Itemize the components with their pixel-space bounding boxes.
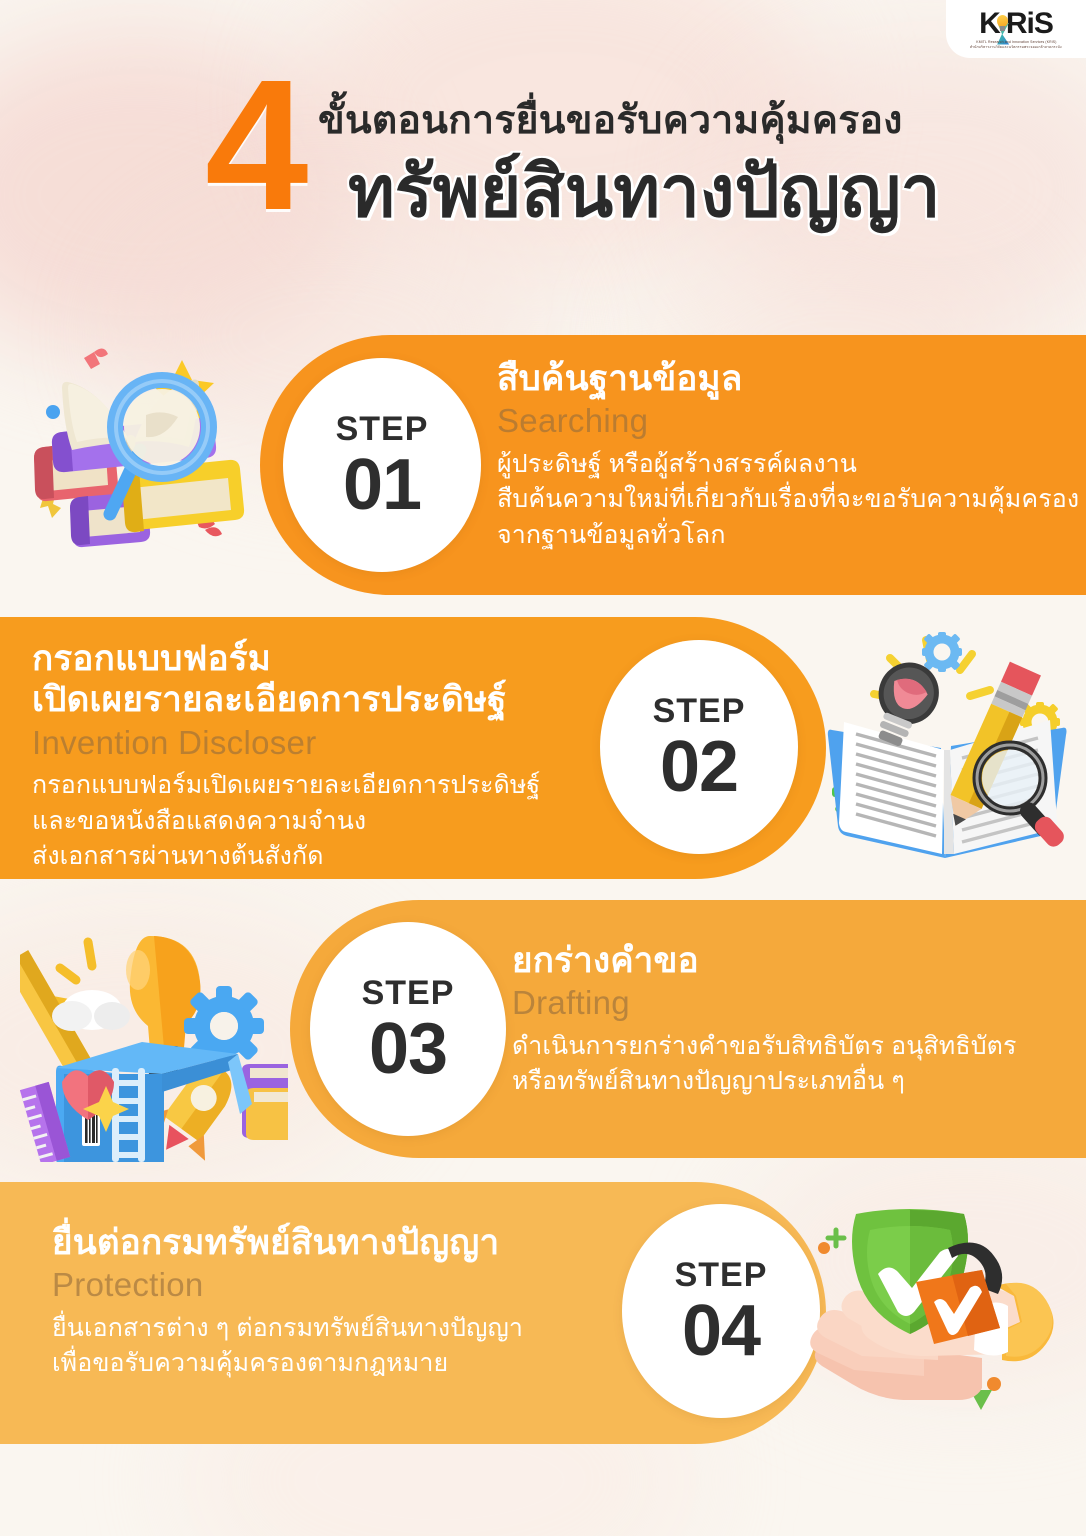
step-badge-4: STEP 04 bbox=[622, 1204, 820, 1418]
step-title-th: สืบค้นฐานข้อมูล bbox=[497, 358, 1067, 399]
step-content-2: กรอกแบบฟอร์ม เปิดเผยรายละเอียดการประดิษฐ… bbox=[32, 638, 592, 875]
step-title-th-line1: กรอกแบบฟอร์ม bbox=[32, 638, 592, 679]
step-number: 03 bbox=[369, 1015, 447, 1083]
logo-letter-s: S bbox=[1034, 9, 1053, 39]
step-content-1: สืบค้นฐานข้อมูล Searching ผู้ประดิษฐ์ หร… bbox=[497, 358, 1067, 553]
logo-letters-ri: Ri bbox=[1006, 9, 1034, 39]
step-body-line: สืบค้นความใหม่ที่เกี่ยวกับเรื่องที่จะขอร… bbox=[497, 482, 1067, 518]
logo-subtitle-en: KMITL Research and Innovation Services (… bbox=[976, 40, 1056, 45]
step-label: STEP bbox=[675, 1256, 768, 1295]
step-content-4: ยื่นต่อกรมทรัพย์สินทางปัญญา Protection ย… bbox=[52, 1222, 612, 1382]
step-body-line: ผู้ประดิษฐ์ หรือผู้สร้างสรรค์ผลงาน bbox=[497, 447, 1067, 483]
page-header: 4 ขั้นตอนการยื่นขอรับความคุ้มครอง ทรัพย์… bbox=[0, 55, 1086, 245]
lightbulb-icon bbox=[997, 15, 1008, 35]
step-body: กรอกแบบฟอร์มเปิดเผยรายละเอียดการประดิษฐ์… bbox=[32, 768, 592, 875]
step-title-en: Searching bbox=[497, 401, 1067, 441]
step-label: STEP bbox=[336, 410, 429, 449]
step-body-line: ส่งเอกสารผ่านทางต้นสังกัด bbox=[32, 839, 592, 875]
step-title-en: Drafting bbox=[512, 983, 1072, 1023]
step-number: 01 bbox=[343, 451, 421, 519]
logo-subtitle-th: สำนักบริหารงานวิจัยและนวัตกรรมพระจอมเกล้… bbox=[970, 45, 1062, 50]
step-body-line: จากฐานข้อมูลทั่วโลก bbox=[497, 518, 1067, 554]
logo-wordmark: K Ri S bbox=[979, 9, 1053, 39]
step-number: 02 bbox=[660, 733, 738, 801]
step-body: ยื่นเอกสารต่าง ๆ ต่อกรมทรัพย์สินทางปัญญา… bbox=[52, 1311, 612, 1382]
step-body-line: ดำเนินการยกร่างคำขอรับสิทธิบัตร อนุสิทธิ… bbox=[512, 1029, 1072, 1065]
books-magnifier-icon bbox=[22, 330, 284, 592]
idea-box-lightbulb-icon bbox=[20, 918, 288, 1162]
step-badge-2: STEP 02 bbox=[600, 640, 798, 854]
step-title-th-line2: เปิดเผยรายละเอียดการประดิษฐ์ bbox=[32, 679, 592, 720]
step-title-en: Protection bbox=[52, 1265, 612, 1305]
step-body-line: เพื่อขอรับความคุ้มครองตามกฎหมาย bbox=[52, 1346, 612, 1382]
header-big-number: 4 bbox=[205, 53, 298, 239]
step-body: ดำเนินการยกร่างคำขอรับสิทธิบัตร อนุสิทธิ… bbox=[512, 1029, 1072, 1100]
page-title: ทรัพย์สินทางปัญญา bbox=[348, 135, 940, 248]
step-body-line: และขอหนังสือแสดงความจำนง bbox=[32, 804, 592, 840]
step-title-th: ยกร่างคำขอ bbox=[512, 940, 1072, 981]
step-body: ผู้ประดิษฐ์ หรือผู้สร้างสรรค์ผลงาน สืบค้… bbox=[497, 447, 1067, 554]
step-number: 04 bbox=[682, 1297, 760, 1365]
step-body-line: หรือทรัพย์สินทางปัญญาประเภทอื่น ๆ bbox=[512, 1064, 1072, 1100]
step-title-th: ยื่นต่อกรมทรัพย์สินทางปัญญา bbox=[52, 1222, 612, 1263]
kris-logo: K Ri S KMITL Research and Innovation Ser… bbox=[946, 0, 1086, 58]
step-content-3: ยกร่างคำขอ Drafting ดำเนินการยกร่างคำขอร… bbox=[512, 940, 1072, 1100]
step-title-en: Invention Discloser bbox=[32, 723, 592, 763]
step-label: STEP bbox=[362, 974, 455, 1013]
open-book-lightbulb-pencil-icon bbox=[812, 630, 1082, 882]
step-badge-1: STEP 01 bbox=[283, 358, 481, 572]
step-label: STEP bbox=[653, 692, 746, 731]
step-badge-3: STEP 03 bbox=[310, 922, 506, 1136]
step-body-line: กรอกแบบฟอร์มเปิดเผยรายละเอียดการประดิษฐ์ bbox=[32, 768, 592, 804]
hand-shield-lock-icon bbox=[800, 1208, 1082, 1440]
step-body-line: ยื่นเอกสารต่าง ๆ ต่อกรมทรัพย์สินทางปัญญา bbox=[52, 1311, 612, 1347]
